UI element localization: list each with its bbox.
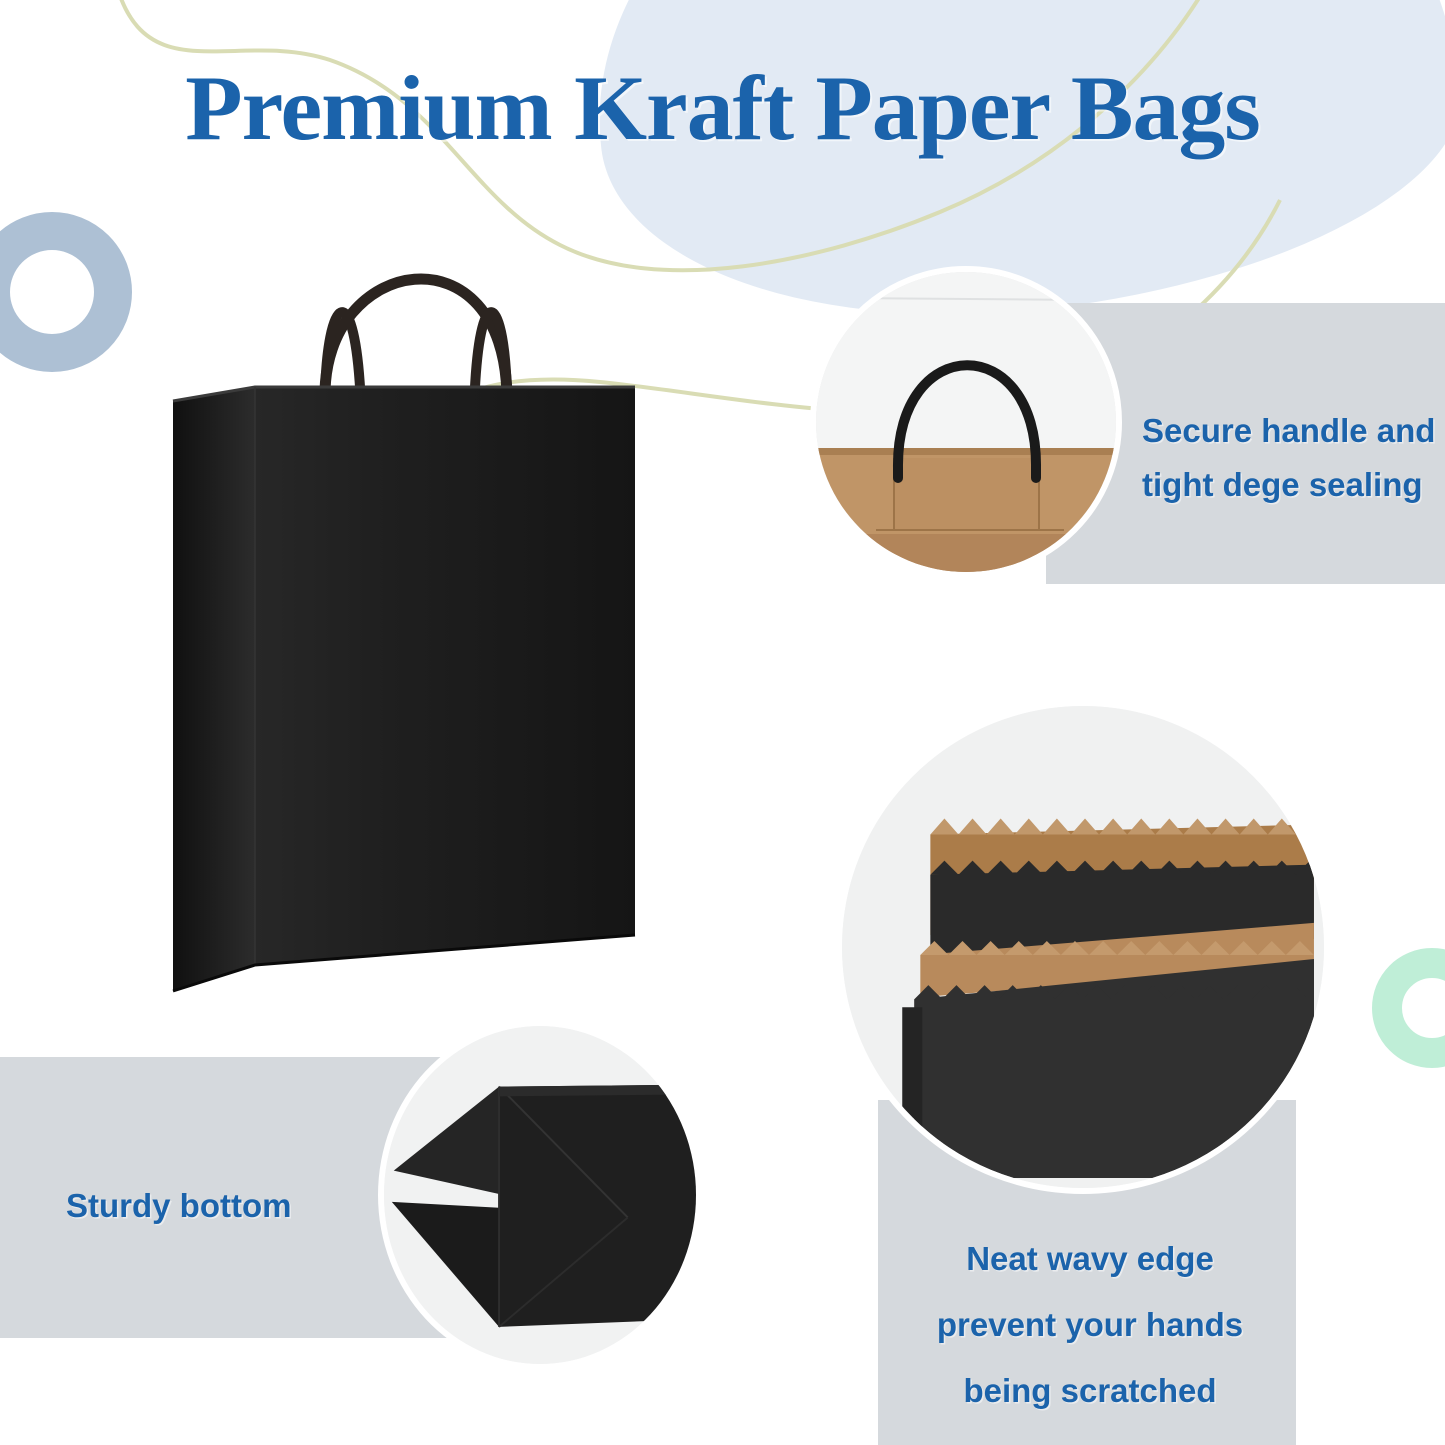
caption-secure-handle-line-1: Secure handle and [1142,404,1442,458]
caption-sturdy-bottom-line-1: Sturdy bottom [66,1182,426,1230]
caption-sturdy-bottom: Sturdy bottom [66,1182,426,1230]
detail-photo-secure-handle [810,266,1122,578]
caption-wavy-edge-line-3: being scratched [900,1358,1280,1424]
infographic-canvas: Premium Kraft Paper Bags [0,0,1445,1445]
caption-wavy-edge-line-1: Neat wavy edge [900,1226,1280,1292]
detail-photo-sturdy-bottom [378,1020,702,1370]
decorative-mint-ring [1372,948,1445,1068]
caption-wavy-edge-line-2: prevent your hands [900,1292,1280,1358]
caption-secure-handle: Secure handle and tight dege sealing [1142,404,1442,512]
hero-product-image [155,165,675,1015]
caption-secure-handle-line-2: tight dege sealing [1142,458,1442,512]
detail-photo-wavy-edge [836,700,1330,1194]
caption-wavy-edge: Neat wavy edge prevent your hands being … [900,1226,1280,1424]
page-title: Premium Kraft Paper Bags [0,62,1445,154]
